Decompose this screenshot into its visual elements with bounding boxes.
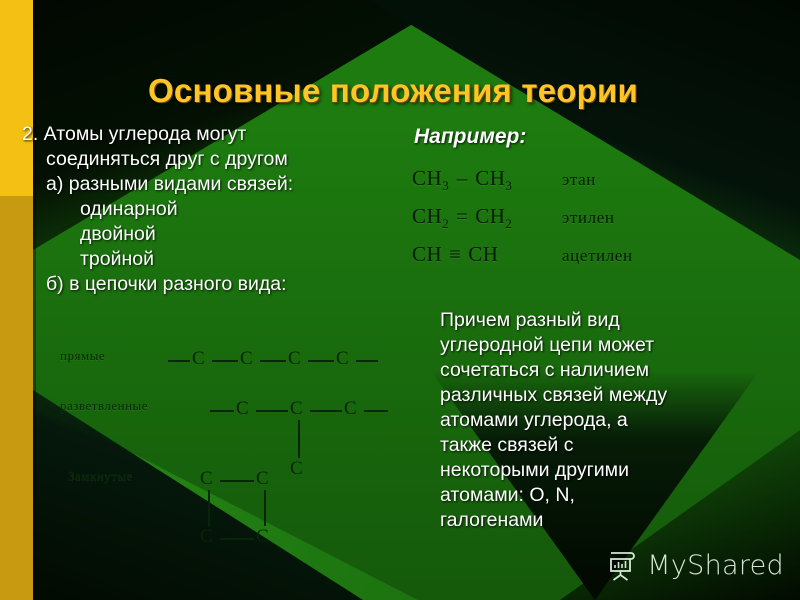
chain-branched-branch-atom: C <box>290 458 303 480</box>
formula-ethylene: CH2=CH2 <box>412 201 562 239</box>
chain-closed-atom-top-right: C <box>256 468 269 490</box>
right-line-4: различных связей между <box>440 383 770 408</box>
left-line-4: одинарной <box>80 197 422 222</box>
formula-row-ethane: CH3–CH3 этан <box>412 163 633 201</box>
right-line-6: также связей с <box>440 433 770 458</box>
right-line-1: Причем разный вид <box>440 308 770 333</box>
compound-name-acetylene: ацетилен <box>562 240 633 271</box>
right-line-5: атомами углерода, а <box>440 408 770 433</box>
formula-right: CH <box>475 166 505 190</box>
chain-straight-atom-4: C <box>336 348 349 370</box>
myshared-watermark: MyShared <box>605 548 784 582</box>
chain-closed-atom-bottom-left: C <box>200 526 213 548</box>
formula-right-subscript: 3 <box>505 178 512 193</box>
formula-left-subscript: 2 <box>442 216 449 231</box>
formula-right: CH <box>475 204 505 228</box>
bond-symbol-double: = <box>449 201 475 232</box>
formula-right: CH <box>468 242 498 266</box>
chain-straight-atom-2: C <box>240 348 253 370</box>
example-heading: Например: <box>414 125 526 149</box>
right-line-3: сочетаться с наличием <box>440 358 770 383</box>
chain-diagrams: прямые C C C C разветвленные C C C C Зам… <box>60 340 430 560</box>
left-line-6: тройной <box>80 247 422 272</box>
left-line-1: 2. Атомы углерода могут <box>22 122 422 147</box>
formula-row-ethylene: CH2=CH2 этилен <box>412 201 633 239</box>
right-text-block: Причем разный вид углеродной цепи может … <box>440 308 770 533</box>
formula-list: CH3–CH3 этан CH2=CH2 этилен CH≡CH ацетил… <box>412 163 633 278</box>
bond-symbol-triple: ≡ <box>442 239 468 270</box>
formula-ethane: CH3–CH3 <box>412 163 562 201</box>
left-line-2: соединяться друг с другом <box>46 147 422 172</box>
chain-branched-atom-1: C <box>236 398 249 420</box>
presentation-chart-easel-icon <box>605 548 639 582</box>
right-line-8: атомами: O, N, <box>440 483 770 508</box>
chain-label-branched: разветвленные <box>60 398 148 414</box>
chain-straight-atom-3: C <box>288 348 301 370</box>
left-text-block: 2. Атомы углерода могут соединяться друг… <box>22 122 422 297</box>
left-accent-sidebar <box>0 0 33 600</box>
right-line-7: некоторыми другими <box>440 458 770 483</box>
formula-row-acetylene: CH≡CH ацетилен <box>412 239 633 277</box>
chain-straight-atom-1: C <box>192 348 205 370</box>
page-title: Основные положения теории <box>33 72 753 110</box>
slide-canvas: Основные положения теории 2. Атомы углер… <box>0 0 800 600</box>
formula-right-subscript: 2 <box>505 216 512 231</box>
chain-branched-atom-3: C <box>344 398 357 420</box>
chain-label-closed: Замкнутые <box>68 468 133 484</box>
chain-closed-atom-top-left: C <box>200 468 213 490</box>
formula-left: CH <box>412 242 442 266</box>
myshared-wordmark: MyShared <box>647 550 784 581</box>
compound-name-ethane: этан <box>562 164 596 195</box>
chain-label-straight: прямые <box>60 348 105 364</box>
chain-branched-atom-2: C <box>290 398 303 420</box>
right-line-2: углеродной цепи может <box>440 333 770 358</box>
formula-left-subscript: 3 <box>442 178 449 193</box>
left-line-7: б) в цепочки разного вида: <box>46 272 422 297</box>
chain-closed-atom-bottom-right: C <box>256 526 269 548</box>
formula-left: CH <box>412 204 442 228</box>
formula-left: CH <box>412 166 442 190</box>
left-line-3: а) разными видами связей: <box>46 172 422 197</box>
formula-acetylene: CH≡CH <box>412 239 562 277</box>
compound-name-ethylene: этилен <box>562 202 615 233</box>
right-line-9: галогенами <box>440 508 770 533</box>
bond-symbol-single: – <box>449 163 475 194</box>
left-line-5: двойной <box>80 222 422 247</box>
